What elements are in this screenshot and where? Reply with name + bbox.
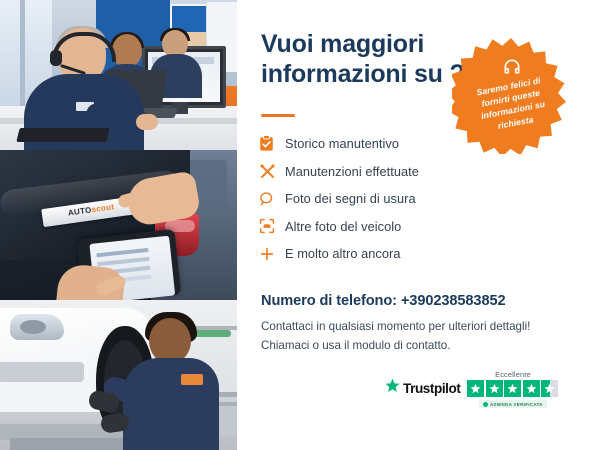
photo-vehicle-inspection-strip-tablet: AUTOscout — [0, 150, 237, 300]
trustpilot-logo: Trustpilot — [385, 370, 460, 398]
content-panel: Vuoi maggiori informazioni su ? Saremo f… — [237, 0, 600, 450]
star-rating — [467, 380, 558, 397]
trustpilot-rating-block: Eccellente — [467, 370, 558, 408]
contact-line-1: Contattaci in qualsiasi momento per ulte… — [261, 318, 581, 337]
phone-number[interactable]: Numero di telefono: +390238583852 — [261, 293, 506, 309]
magnifier-icon — [259, 190, 285, 208]
title-underline-divider — [261, 114, 295, 117]
list-item-service-history: Storico manutentivo — [259, 130, 519, 158]
clipboard-check-icon — [259, 135, 285, 153]
photo-column: AUTOscout — [0, 0, 237, 450]
list-item-label: Storico manutentivo — [285, 136, 399, 151]
list-item-label: Foto dei segni di usura — [285, 191, 416, 206]
page-title: Vuoi maggiori informazioni su ? — [261, 30, 481, 89]
list-item-label: Manutenzioni effettuate — [285, 164, 419, 179]
headset-icon — [502, 57, 522, 77]
verified-check-icon — [483, 402, 488, 407]
verified-company-badge: AZIENDA VERIFICATA — [479, 400, 547, 408]
trustpilot-widget[interactable]: Trustpilot Eccellente — [385, 370, 585, 408]
star-filled — [523, 380, 540, 397]
trustpilot-star-icon — [385, 378, 400, 398]
list-item-label: E molto altro ancora — [285, 246, 401, 261]
car-scan-frame-icon — [259, 217, 285, 235]
plus-icon — [259, 245, 285, 263]
car-grille — [0, 362, 84, 382]
star-filled — [467, 380, 484, 397]
keyboard — [16, 128, 109, 142]
mechanic-figure — [119, 316, 219, 450]
contact-line-2: Chiamaci o usa il modulo di contatto. — [261, 337, 581, 356]
list-item-more-photos: Altre foto del veicolo — [259, 213, 519, 241]
photo-call-center-agents-with-headsets — [0, 0, 237, 150]
crossed-tools-icon — [259, 162, 285, 180]
advertisement-banner: AUTOscout — [0, 0, 600, 450]
trustpilot-wordmark: Trustpilot — [403, 381, 460, 396]
list-item-maintenance-done: Manutenzioni effettuate — [259, 158, 519, 186]
rating-label: Eccellente — [495, 370, 531, 379]
star-filled — [486, 380, 503, 397]
list-item-label: Altre foto del veicolo — [285, 219, 401, 234]
list-item-much-more: E molto altro ancora — [259, 240, 519, 268]
verified-label: AZIENDA VERIFICATA — [490, 402, 543, 407]
car-headlight — [10, 314, 64, 340]
feature-list: Storico manutentivo Manutenzioni effettu… — [259, 130, 519, 268]
photo-mechanic-inspecting-wheel — [0, 300, 237, 450]
list-item-wear-photos: Foto dei segni di usura — [259, 185, 519, 213]
star-filled — [504, 380, 521, 397]
contact-instructions: Contattaci in qualsiasi momento per ulte… — [261, 318, 581, 356]
star-half — [541, 380, 558, 397]
